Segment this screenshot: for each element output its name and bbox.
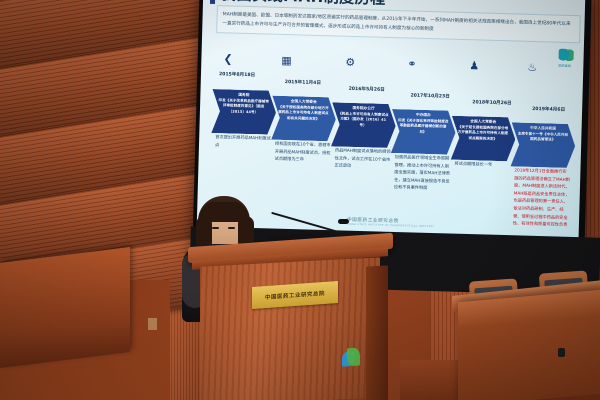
podium-plaque-text: 中国医药工业研究总院 [265,289,325,301]
timeline-note: 将试点期限延长一年 [454,160,510,169]
conference-hall-photo: 我国实践MAH制度历程 国药集团 MAH制度是美国、欧盟、日本等制药发达国家/地… [0,0,600,400]
side-cabinet [0,247,130,368]
wall-outlet [148,318,157,330]
timeline-note: 加强药品医疗领域全生命周期管理，推动上市许可持有人制度全面实施，落实MAH法律责… [394,153,451,193]
timeline-note: 首次提出开展药品MAH制度试点 [215,133,271,150]
timeline-step: 国务院 印发《关于改革药品医疗器械审评审批制度的意见》（国发〔2015〕44号） [211,89,276,135]
nodes-icon: ⚭ [407,58,417,69]
timeline-note: 授权国务院在10个省、直辖市开展药品MAH制度试点，授权试点期限为三年 [275,140,332,164]
timeline-note: 药品MAH制度试点落地的纲领性文件，试点工作在10个省市正式启动 [334,146,391,170]
timeline-doc: 《关于延长授权国务院在部分地方开展药品上市许可持有人制度试点期限的决定》 [458,125,509,141]
podium-body [200,257,380,400]
title-accent-bar [210,0,216,4]
conference-table [458,290,600,400]
person-icon: ♟ [469,60,479,71]
timeline-note-highlighted: 2019年12月1日全面推行实施的药品管理法确立了MAH制度，MAH制度进入新法… [513,166,571,228]
microphone-head [338,219,349,224]
cabinet-lock [558,348,565,357]
podium-side-edge [366,265,388,400]
wooden-podium: 中国医药工业研究总院 [190,240,390,400]
lightbulb-icon: ♨ [527,62,537,73]
timeline-doc: 印发《关于改革药品医疗器械审评审批制度的意见》（国发〔2015〕44号） [218,98,268,114]
slide-paragraph: MAH制度是美国、欧盟、日本等制药发达国家/地区普遍实行的药品管理制度，从201… [216,5,581,43]
timeline-chevrons: 国务院 印发《关于改革药品医疗器械审评审批制度的意见》（国发〔2015〕44号）… [211,81,574,139]
slide-footer: 中国医药工业研究总院 CHINA STATE INSTITUTE OF PHAR… [347,217,435,228]
timeline-doc: 印发《关于深化审评审批制度改革鼓励药品医疗器械创新的意见》 [398,118,448,133]
timeline-doc: 《药品上市许可持有人制度试点方案》（国办发〔2016〕41号） [338,112,388,127]
gear-badge-icon: ⚙ [345,57,355,68]
bar-chart-icon: ▦ [281,55,292,66]
timeline-doc: 主席令第十一号《中华人民共和国药品管理法》 [518,132,568,142]
timeline-doc: 《关于授权国务院在部分地方开展药品上市许可持有人制度试点和有关问题的决定》 [278,105,329,121]
share-network-icon: ❮ [223,53,233,64]
sinopharm-emblem-icon [342,347,362,372]
timeline-date: 2015年8月18日 [219,71,255,78]
